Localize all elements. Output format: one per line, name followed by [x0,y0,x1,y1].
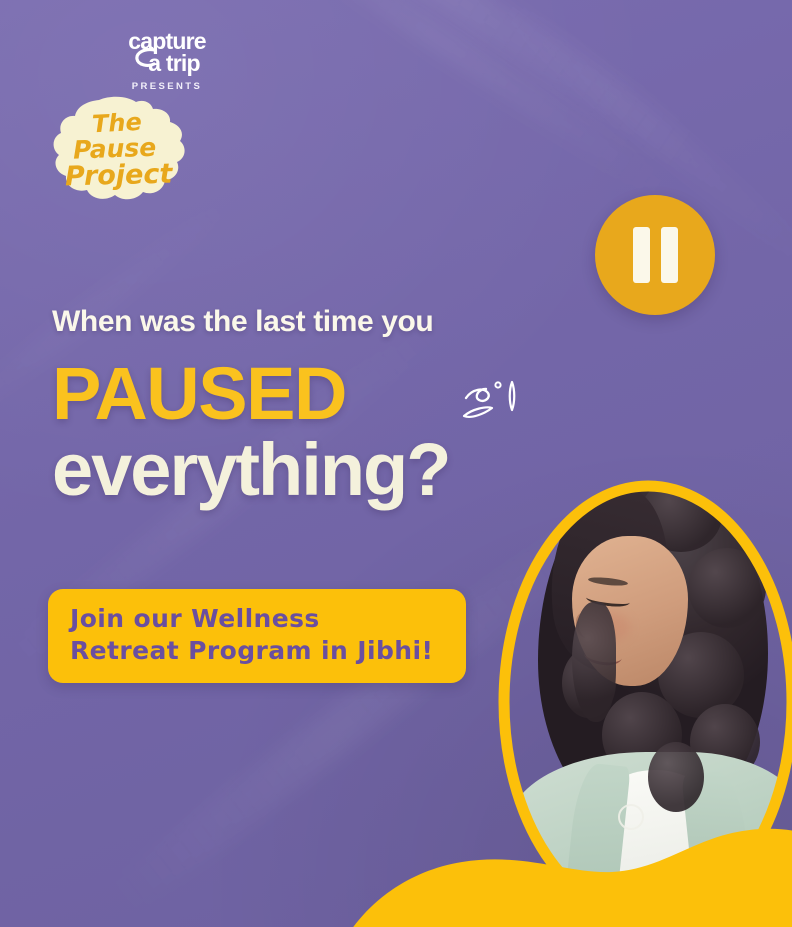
headline-kicker: When was the last time you [52,305,612,338]
swoosh-icon [134,47,160,69]
cta-banner[interactable]: Join our Wellness Retreat Program in Jib… [48,589,466,683]
pause-project-badge: The Pause Project [47,96,191,204]
capture-a-trip-logo: capture a trip [112,30,222,74]
badge-blob-shape [47,96,191,204]
presents-label: PRESENTS [62,81,272,92]
cta-line-2: Retreat Program in Jibhi! [70,635,444,667]
cta-line-1: Join our Wellness [70,603,444,635]
pause-icon[interactable] [595,195,715,315]
headline-emphasis: PAUSED [52,358,612,431]
yellow-blob-shape [336,826,792,927]
blob-path [336,826,792,927]
brand-header: capture a trip PRESENTS [62,30,272,92]
logo-line-1: capture [112,30,222,52]
sparkle-doodle-icon [458,376,526,430]
poster-canvas: capture a trip PRESENTS The Pause Projec… [0,0,792,927]
pause-bar-right [661,227,678,283]
logo-line-2: a trip [112,52,222,74]
pause-bar-left [633,227,650,283]
